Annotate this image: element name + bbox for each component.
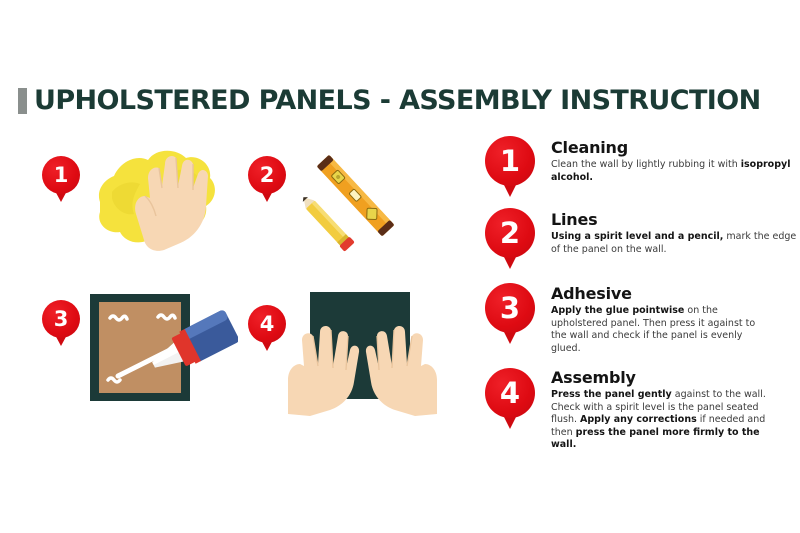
pin-number: 2 [248, 156, 286, 194]
pin-number: 4 [485, 368, 535, 418]
step-body: Using a spirit level and a pencil, mark … [551, 231, 800, 256]
illustration-marker-1: 1 [42, 156, 80, 194]
step-heading: Lines [551, 210, 800, 229]
step-marker-4: 4 [485, 368, 535, 418]
two-hands-pressing-panel-icon [280, 288, 445, 418]
step-block-cleaning: Cleaning Clean the wall by lightly rubbi… [551, 138, 800, 184]
illustration-marker-4: 4 [248, 305, 286, 343]
pin-number: 3 [485, 283, 535, 333]
step-block-adhesive: Adhesive Apply the glue pointwise on the… [551, 284, 767, 355]
pin-number: 1 [485, 136, 535, 186]
step-body: Press the panel gently against to the wa… [551, 389, 771, 452]
step-heading: Adhesive [551, 284, 767, 303]
illustration-adhesive [88, 292, 238, 404]
illustration-cleaning [90, 140, 225, 255]
illustration-marker-2: 2 [248, 156, 286, 194]
hand-with-yellow-cloth-icon [90, 140, 225, 255]
step-body: Clean the wall by lightly rubbing it wit… [551, 159, 800, 184]
step-marker-1: 1 [485, 136, 535, 186]
pin-number: 3 [42, 300, 80, 338]
title-text: UPHOLSTERED PANELS - ASSEMBLY INSTRUCTIO… [34, 85, 761, 116]
step-block-lines: Lines Using a spirit level and a pencil,… [551, 210, 800, 256]
step-heading: Cleaning [551, 138, 800, 157]
step-marker-3: 3 [485, 283, 535, 333]
step-body: Apply the glue pointwise on the upholste… [551, 305, 767, 355]
pin-number: 1 [42, 156, 80, 194]
illustration-assembly [280, 288, 445, 418]
step-marker-2: 2 [485, 208, 535, 258]
illustration-lines [288, 140, 418, 260]
infographic-canvas: UPHOLSTERED PANELS - ASSEMBLY INSTRUCTIO… [0, 0, 800, 533]
illustration-marker-3: 3 [42, 300, 80, 338]
pin-number: 2 [485, 208, 535, 258]
spirit-level-and-pencil-icon [288, 140, 418, 260]
pin-number: 4 [248, 305, 286, 343]
title-accent-bar [18, 88, 27, 114]
page-title: UPHOLSTERED PANELS - ASSEMBLY INSTRUCTIO… [18, 85, 761, 116]
panel-back-with-glue-gun-icon [88, 292, 238, 404]
step-heading: Assembly [551, 368, 771, 387]
step-block-assembly: Assembly Press the panel gently against … [551, 368, 771, 452]
